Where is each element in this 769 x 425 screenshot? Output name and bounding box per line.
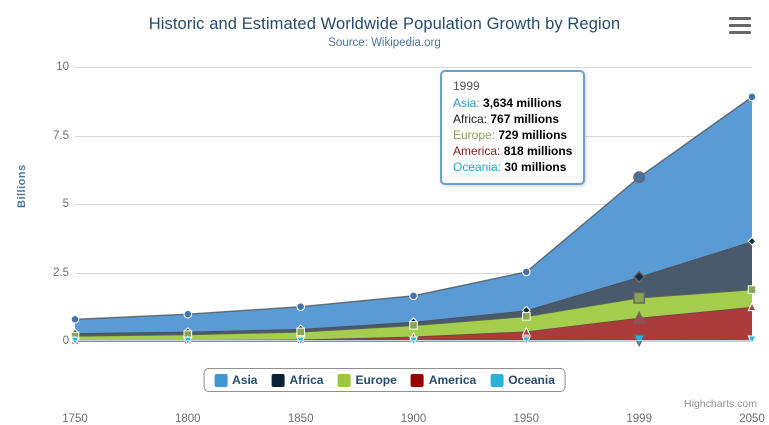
x-axis-tick-label: 1800: [175, 413, 201, 425]
chart-subtitle: Source: Wikipedia.org: [0, 37, 769, 49]
chart-legend: AsiaAfricaEuropeAmericaOceania: [203, 368, 566, 392]
tooltip: 1999 Asia: 3,634 millionsAfrica: 767 mil…: [440, 70, 585, 185]
y-axis-tick-label: 10: [56, 61, 69, 73]
tooltip-series-name: Asia:: [453, 96, 483, 110]
data-point[interactable]: [634, 172, 644, 182]
tooltip-series-value: 729 millions: [498, 128, 567, 142]
x-axis-tick-label: 2050: [739, 413, 765, 425]
legend-swatch: [411, 374, 424, 387]
data-point[interactable]: [523, 313, 531, 321]
data-point[interactable]: [410, 322, 418, 330]
y-axis-tick-label: 0: [63, 335, 69, 347]
legend-item-america[interactable]: America: [411, 373, 476, 387]
tooltip-row: America: 818 millions: [453, 143, 572, 159]
tooltip-series-value: 3,634 millions: [483, 96, 562, 110]
series-layer: [75, 67, 752, 341]
x-axis-tick-label: 1950: [514, 413, 540, 425]
legend-label: Europe: [355, 373, 396, 387]
x-axis-tick-label: 1750: [62, 413, 88, 425]
legend-label: Oceania: [508, 373, 555, 387]
legend-swatch: [271, 374, 284, 387]
data-point[interactable]: [71, 316, 79, 324]
x-axis-line: [75, 340, 752, 341]
data-point[interactable]: [297, 303, 305, 311]
tooltip-series-value: 30 millions: [504, 160, 566, 174]
y-axis-tick-label: 5: [63, 198, 69, 210]
tooltip-row: Asia: 3,634 millions: [453, 95, 572, 111]
legend-label: Africa: [289, 373, 323, 387]
data-point[interactable]: [748, 286, 756, 294]
hamburger-bar: [729, 17, 751, 20]
data-point[interactable]: [184, 310, 192, 318]
legend-item-asia[interactable]: Asia: [214, 373, 257, 387]
x-axis-tick-label: 1999: [626, 413, 652, 425]
legend-swatch: [490, 374, 503, 387]
hamburger-menu-icon[interactable]: [729, 17, 751, 35]
tooltip-row: Europe: 729 millions: [453, 127, 572, 143]
y-axis-title: Billions: [16, 164, 28, 208]
tooltip-row: Oceania: 30 millions: [453, 159, 572, 175]
legend-label: America: [429, 373, 476, 387]
legend-label: Asia: [232, 373, 257, 387]
tooltip-series-name: Europe:: [453, 128, 498, 142]
tooltip-series-name: Africa:: [453, 112, 490, 126]
tooltip-series-value: 818 millions: [504, 144, 573, 158]
data-point[interactable]: [523, 268, 531, 276]
tooltip-series-name: America:: [453, 144, 504, 158]
y-axis-tick-label: 7.5: [53, 130, 69, 142]
data-point[interactable]: [410, 292, 418, 300]
data-point[interactable]: [634, 293, 644, 303]
x-axis-tick-label: 1900: [401, 413, 427, 425]
legend-swatch: [337, 374, 350, 387]
highcharts-container: Historic and Estimated Worldwide Populat…: [0, 0, 769, 416]
legend-swatch: [214, 374, 227, 387]
plot-area: 02.557.510 1750180018501900195019992050: [75, 67, 752, 341]
tooltip-series-name: Oceania:: [453, 160, 504, 174]
tooltip-series-value: 767 millions: [490, 112, 559, 126]
x-axis-tick-label: 1850: [288, 413, 314, 425]
legend-item-oceania[interactable]: Oceania: [490, 373, 555, 387]
data-point[interactable]: [748, 93, 756, 101]
hamburger-bar: [729, 31, 751, 34]
chart-title: Historic and Estimated Worldwide Populat…: [0, 15, 769, 34]
credits-link[interactable]: Highcharts.com: [684, 398, 757, 410]
tooltip-row: Africa: 767 millions: [453, 111, 572, 127]
legend-item-africa[interactable]: Africa: [271, 373, 323, 387]
legend-item-europe[interactable]: Europe: [337, 373, 396, 387]
tooltip-header: 1999: [453, 79, 572, 95]
hamburger-bar: [729, 24, 751, 27]
y-axis-tick-label: 2.5: [53, 267, 69, 279]
tooltip-rows: Asia: 3,634 millionsAfrica: 767 millions…: [453, 95, 572, 175]
